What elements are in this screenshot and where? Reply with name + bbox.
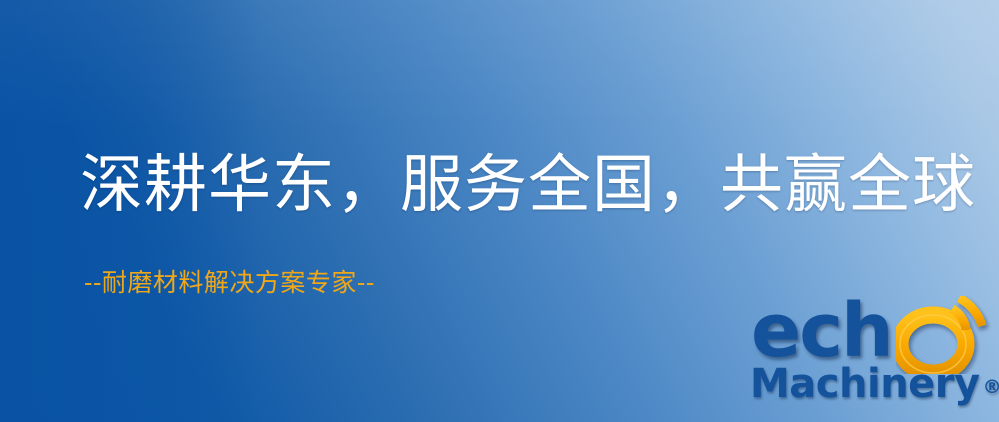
logo-echo-text: ech	[751, 294, 892, 368]
promo-banner: 深耕华东，服务全国，共赢全球 --耐磨材料解决方案专家-- ech	[0, 0, 999, 422]
logo-machinery-text: Machinery®	[750, 364, 999, 404]
echo-machinery-logo[interactable]: ech	[748, 296, 999, 422]
banner-subtitle: --耐磨材料解决方案专家--	[84, 268, 375, 298]
registered-trademark-icon: ®	[983, 376, 999, 398]
logo-machinery-word: Machinery	[750, 361, 980, 407]
banner-headline: 深耕华东，服务全国，共赢全球	[80, 152, 976, 218]
